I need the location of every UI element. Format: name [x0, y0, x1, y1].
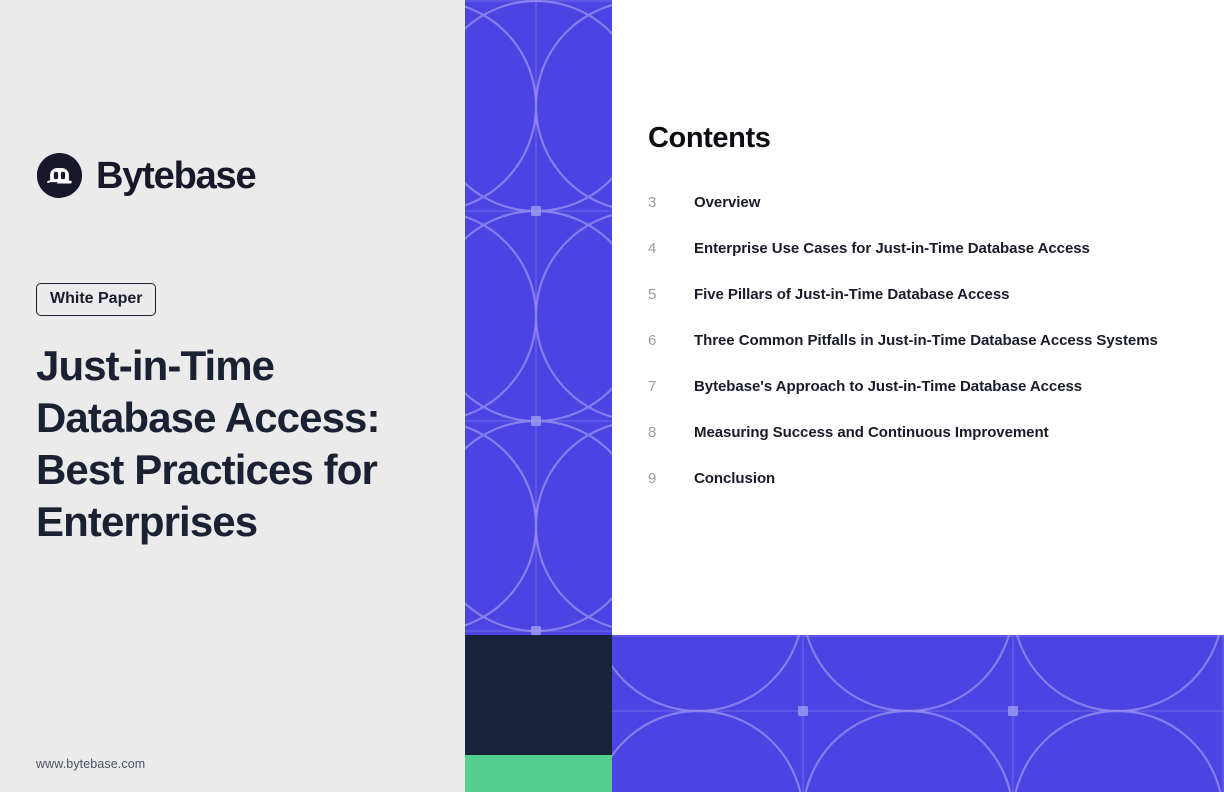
- toc-entry-label: Bytebase's Approach to Just-in-Time Data…: [694, 379, 1082, 394]
- toc-page-number: 9: [648, 471, 694, 486]
- toc-entry-label: Overview: [694, 195, 760, 210]
- toc-entry[interactable]: 7 Bytebase's Approach to Just-in-Time Da…: [648, 379, 1208, 425]
- toc-entry-label: Five Pillars of Just-in-Time Database Ac…: [694, 287, 1009, 302]
- toc-entry-label: Three Common Pitfalls in Just-in-Time Da…: [694, 333, 1158, 348]
- toc-page-number: 6: [648, 333, 694, 348]
- toc-page-number: 4: [648, 241, 694, 256]
- page-title: Just-in-Time Database Access: Best Pract…: [36, 340, 436, 548]
- decorative-navy-block: [465, 635, 612, 755]
- decorative-green-block: [465, 755, 612, 792]
- bytebase-logo-lockup: Bytebase: [36, 152, 255, 199]
- toc-page-number: 8: [648, 425, 694, 440]
- contents-panel: Contents 3 Overview 4 Enterprise Use Cas…: [612, 0, 1224, 635]
- whitepaper-cover-page: Bytebase White Paper Just-in-Time Databa…: [0, 0, 1224, 792]
- toc-entry-label: Enterprise Use Cases for Just-in-Time Da…: [694, 241, 1090, 256]
- tangent-circles-pattern-icon: [612, 635, 1224, 792]
- toc-entry[interactable]: 6 Three Common Pitfalls in Just-in-Time …: [648, 333, 1208, 379]
- toc-entry[interactable]: 8 Measuring Success and Continuous Impro…: [648, 425, 1208, 471]
- toc-entry[interactable]: 3 Overview: [648, 195, 1208, 241]
- cover-left-panel: Bytebase White Paper Just-in-Time Databa…: [0, 0, 465, 792]
- footer-website-url: www.bytebase.com: [36, 757, 145, 771]
- toc-entry[interactable]: 4 Enterprise Use Cases for Just-in-Time …: [648, 241, 1208, 287]
- document-type-badge: White Paper: [36, 283, 156, 316]
- table-of-contents-list: 3 Overview 4 Enterprise Use Cases for Ju…: [648, 195, 1208, 517]
- toc-entry-label: Measuring Success and Continuous Improve…: [694, 425, 1049, 440]
- decorative-purple-column: [465, 0, 612, 635]
- contents-heading: Contents: [648, 122, 770, 155]
- toc-page-number: 7: [648, 379, 694, 394]
- bytebase-wordmark: Bytebase: [96, 157, 255, 195]
- toc-entry[interactable]: 9 Conclusion: [648, 471, 1208, 517]
- tangent-circles-pattern-icon: [465, 0, 612, 635]
- bytebase-logo-icon: [36, 152, 83, 199]
- decorative-purple-band: [612, 635, 1224, 792]
- toc-entry[interactable]: 5 Five Pillars of Just-in-Time Database …: [648, 287, 1208, 333]
- toc-page-number: 5: [648, 287, 694, 302]
- toc-entry-label: Conclusion: [694, 471, 775, 486]
- toc-page-number: 3: [648, 195, 694, 210]
